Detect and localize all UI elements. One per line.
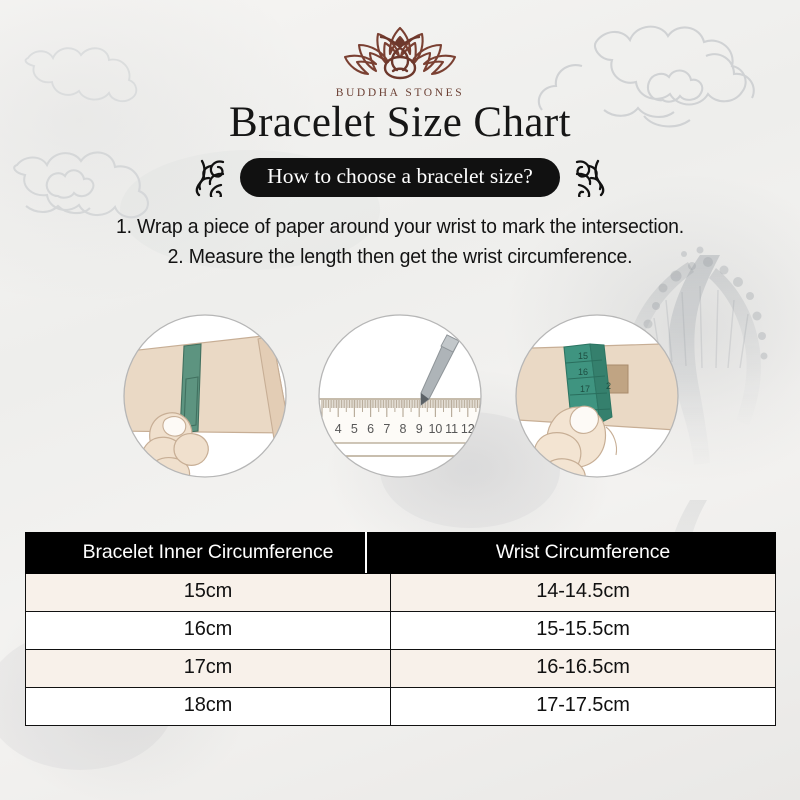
ruler-tick-label: 11	[445, 422, 458, 436]
cell-wrist-circumference: 16-16.5cm	[391, 650, 776, 688]
tape-measure-label: 16	[578, 367, 588, 377]
cell-bracelet-inner-circumference: 18cm	[26, 688, 391, 726]
tape-measure-label: 15	[578, 351, 588, 361]
illustration-measure-wrist-with-tape: 1516172	[514, 313, 680, 479]
cell-bracelet-inner-circumference: 16cm	[26, 612, 391, 650]
illustration-wrap-paper-around-wrist	[122, 313, 288, 479]
instruction-steps: 1. Wrap a piece of paper around your wri…	[0, 212, 800, 272]
ruler-tick-label: 9	[416, 422, 423, 436]
ruler-tick-label: 4	[335, 422, 342, 436]
ruler-tick-label: 10	[428, 422, 442, 436]
table-body: 15cm14-14.5cm16cm15-15.5cm17cm16-16.5cm1…	[26, 574, 776, 726]
ruler-tick-label: 7	[383, 422, 390, 436]
instruction-step-1: 1. Wrap a piece of paper around your wri…	[20, 212, 780, 242]
table-header-row: Bracelet Inner Circumference Wrist Circu…	[26, 533, 776, 574]
ruler-tick-label: 8	[400, 422, 407, 436]
ruler-tick-label: 6	[367, 422, 374, 436]
subtitle-row: How to choose a bracelet size?	[0, 157, 800, 197]
size-table: Bracelet Inner Circumference Wrist Circu…	[25, 532, 776, 726]
cell-bracelet-inner-circumference: 15cm	[26, 574, 391, 612]
instruction-step-2: 2. Measure the length then get the wrist…	[20, 242, 780, 272]
ruler-tick-label: 5	[351, 422, 358, 436]
tape-measure-label: 17	[580, 384, 590, 394]
chinese-cloud-flourish-icon	[193, 157, 229, 197]
cell-bracelet-inner-circumference: 17cm	[26, 650, 391, 688]
size-chart-page: BUDDHA STONES Bracelet Size Chart How to…	[0, 0, 800, 800]
page-title: Bracelet Size Chart	[0, 98, 800, 148]
header-column-divider	[365, 532, 367, 573]
column-header-wrist-circumference: Wrist Circumference	[391, 533, 776, 574]
column-header-bracelet-inner-circumference: Bracelet Inner Circumference	[26, 533, 391, 574]
illustration-measure-with-ruler: 3456789101112	[317, 313, 483, 479]
chinese-cloud-flourish-icon	[571, 157, 607, 197]
cell-wrist-circumference: 14-14.5cm	[391, 574, 776, 612]
tape-measure-label: 2	[606, 381, 611, 391]
table-row: 15cm14-14.5cm	[26, 574, 776, 612]
subtitle-pill: How to choose a bracelet size?	[240, 158, 560, 197]
cell-wrist-circumference: 15-15.5cm	[391, 612, 776, 650]
table-row: 17cm16-16.5cm	[26, 650, 776, 688]
illustration-row: 3456789101112	[0, 313, 800, 479]
lotus-meditation-icon	[337, 22, 463, 84]
cell-wrist-circumference: 17-17.5cm	[391, 688, 776, 726]
brand-logo: BUDDHA STONES	[0, 22, 800, 99]
table-row: 18cm17-17.5cm	[26, 688, 776, 726]
ruler-tick-label: 12	[461, 422, 475, 436]
table-row: 16cm15-15.5cm	[26, 612, 776, 650]
